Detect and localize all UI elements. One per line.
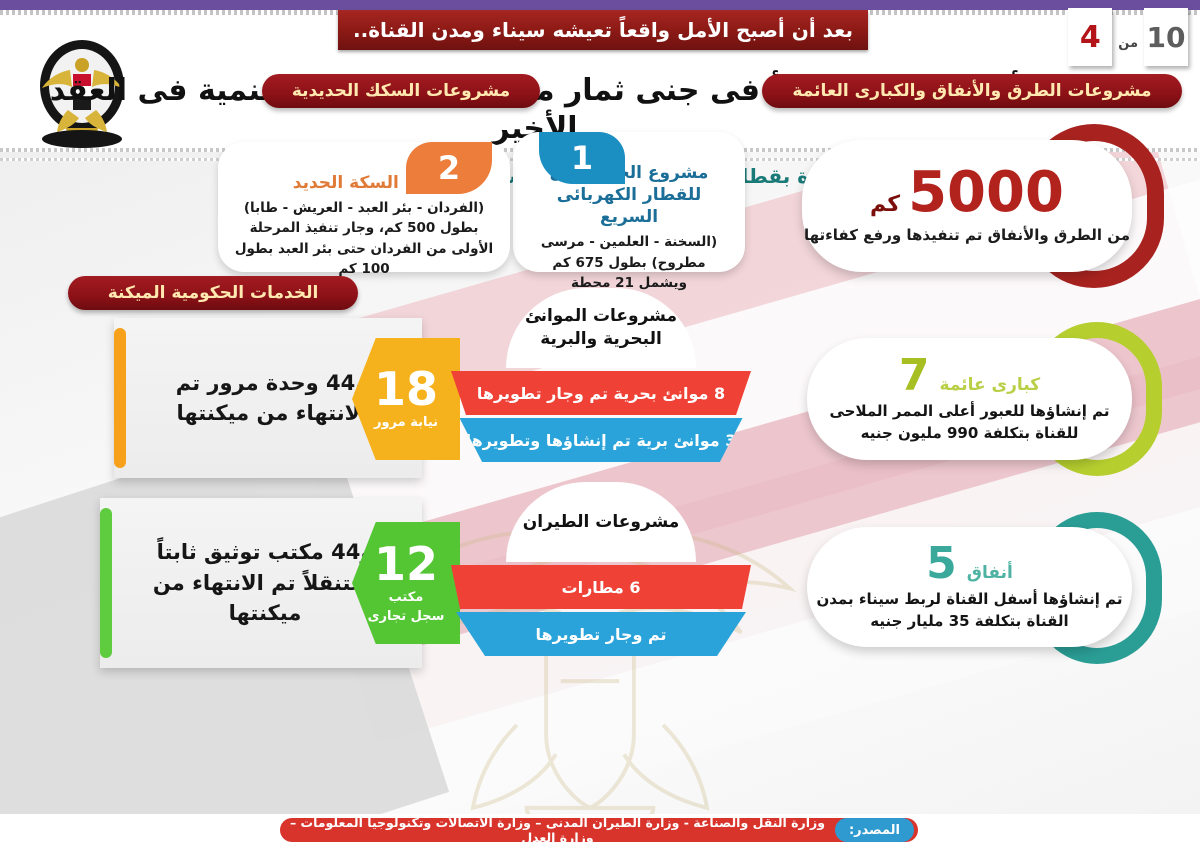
- roads-number-row: 5000 كم: [870, 165, 1064, 221]
- section-header-rail-label: مشروعات السكك الحديدية: [292, 81, 510, 101]
- page-of-label: من: [1112, 36, 1144, 51]
- aviation-dome-title: مشروعات الطيران: [523, 511, 680, 534]
- ports-bar-sea: 8 موانئ بحرية تم وجار تطويرها: [451, 371, 751, 415]
- aviation-bar-status: تم وجار تطويرها: [456, 612, 746, 656]
- bridges-number: 7: [899, 354, 930, 398]
- rail-card-1-body: (السخنة - العلمين - مرسى مطروح) بطول 675…: [527, 232, 731, 293]
- aviation-dome: مشروعات الطيران: [506, 482, 696, 562]
- card-rail-sinai-line: 2 خط السكة الحديد (الفردان - بئر العبد -…: [218, 142, 510, 272]
- top-purple-rule: [0, 0, 1200, 10]
- ports-bar-land: 3 موانئ برية تم إنشاؤها وتطويرها: [460, 418, 743, 462]
- footer-source-label: المصدر:: [835, 818, 914, 842]
- roads-number: 5000: [908, 165, 1064, 221]
- infographic-page: بعد أن أصبح الأمل واقعاً تعيشه سيناء ومد…: [0, 0, 1200, 848]
- tunnels-description: تم إنشاؤها أسفل القناة لربط سيناء بمدن ا…: [807, 589, 1132, 633]
- gov-commerce-badge-label-1: مكتب: [389, 590, 424, 606]
- ports-dome-title: مشروعات الموانئ البحرية والبرية: [506, 305, 696, 351]
- header-kicker-banner: بعد أن أصبح الأمل واقعاً تعيشه سيناء ومد…: [338, 10, 868, 50]
- header-kicker-text: بعد أن أصبح الأمل واقعاً تعيشه سيناء ومد…: [353, 18, 853, 42]
- gov-traffic-accent-bar: [114, 328, 126, 468]
- gov-traffic-badge-label: نيابة مرور: [374, 415, 438, 431]
- bridges-number-row: كبارى عائمة 7: [899, 354, 1040, 398]
- tunnels-number: 5: [926, 542, 957, 586]
- footer-source-bar: المصدر: وزارة النقل والصناعة - وزارة الط…: [280, 818, 918, 842]
- gov-commerce-accent-bar: [100, 508, 112, 658]
- section-header-gov-label: الخدمات الحكومية الميكنة: [108, 283, 319, 303]
- card-roads-length: 5000 كم من الطرق والأنفاق تم تنفيذها ورف…: [802, 140, 1132, 272]
- page-indicator: 10 من 4: [1068, 8, 1188, 66]
- bridges-unit: كبارى عائمة: [940, 375, 1041, 395]
- bridges-description: تم إنشاؤها للعبور أعلى الممر الملاحى للق…: [807, 401, 1132, 445]
- section-header-roads-label: مشروعات الطرق والأنفاق والكبارى العائمة: [792, 81, 1151, 101]
- rail-card-1-badge: 1: [539, 132, 625, 184]
- gov-commerce-badge-label-2: سجل تجارى: [368, 609, 445, 625]
- page-current-box: 4: [1068, 8, 1112, 66]
- gov-commerce-badge-number: 12: [374, 541, 438, 587]
- page-total: 10: [1147, 21, 1186, 54]
- page-total-box: 10: [1144, 8, 1188, 66]
- block-aviation: مشروعات الطيران 6 مطارات تم وجار تطويرها: [436, 482, 766, 656]
- section-header-roads: مشروعات الطرق والأنفاق والكبارى العائمة: [762, 74, 1182, 108]
- roads-unit: كم: [870, 192, 900, 217]
- roads-description: من الطرق والأنفاق تم تنفيذها ورفع كفاءته…: [804, 225, 1130, 247]
- tunnels-unit: أنفاق: [967, 563, 1013, 583]
- section-header-rail: مشروعات السكك الحديدية: [262, 74, 540, 108]
- block-ports: مشروعات الموانئ البحرية والبرية 8 موانئ …: [436, 288, 766, 462]
- rail-card-2-body: (الفردان - بئر العبد - العريش - طابا) بط…: [232, 198, 496, 279]
- footer-source-text: وزارة النقل والصناعة - وزارة الطيران الم…: [280, 815, 835, 845]
- aviation-bar-airports: 6 مطارات: [451, 565, 751, 609]
- gov-traffic-badge-number: 18: [374, 366, 438, 412]
- page-footer: المصدر: وزارة النقل والصناعة - وزارة الط…: [0, 814, 1200, 848]
- section-header-gov-services: الخدمات الحكومية الميكنة: [68, 276, 358, 310]
- tunnels-number-row: أنفاق 5: [926, 542, 1013, 586]
- page-current: 4: [1080, 20, 1101, 55]
- ports-dome: مشروعات الموانئ البحرية والبرية: [506, 288, 696, 368]
- card-tunnels: أنفاق 5 تم إنشاؤها أسفل القناة لربط سينا…: [807, 527, 1132, 647]
- card-floating-bridges: كبارى عائمة 7 تم إنشاؤها للعبور أعلى الم…: [807, 338, 1132, 460]
- rail-card-2-badge: 2: [406, 142, 492, 194]
- card-rail-highspeed: 1 مشروع الخط الأول للقطار الكهربائى السر…: [513, 132, 745, 272]
